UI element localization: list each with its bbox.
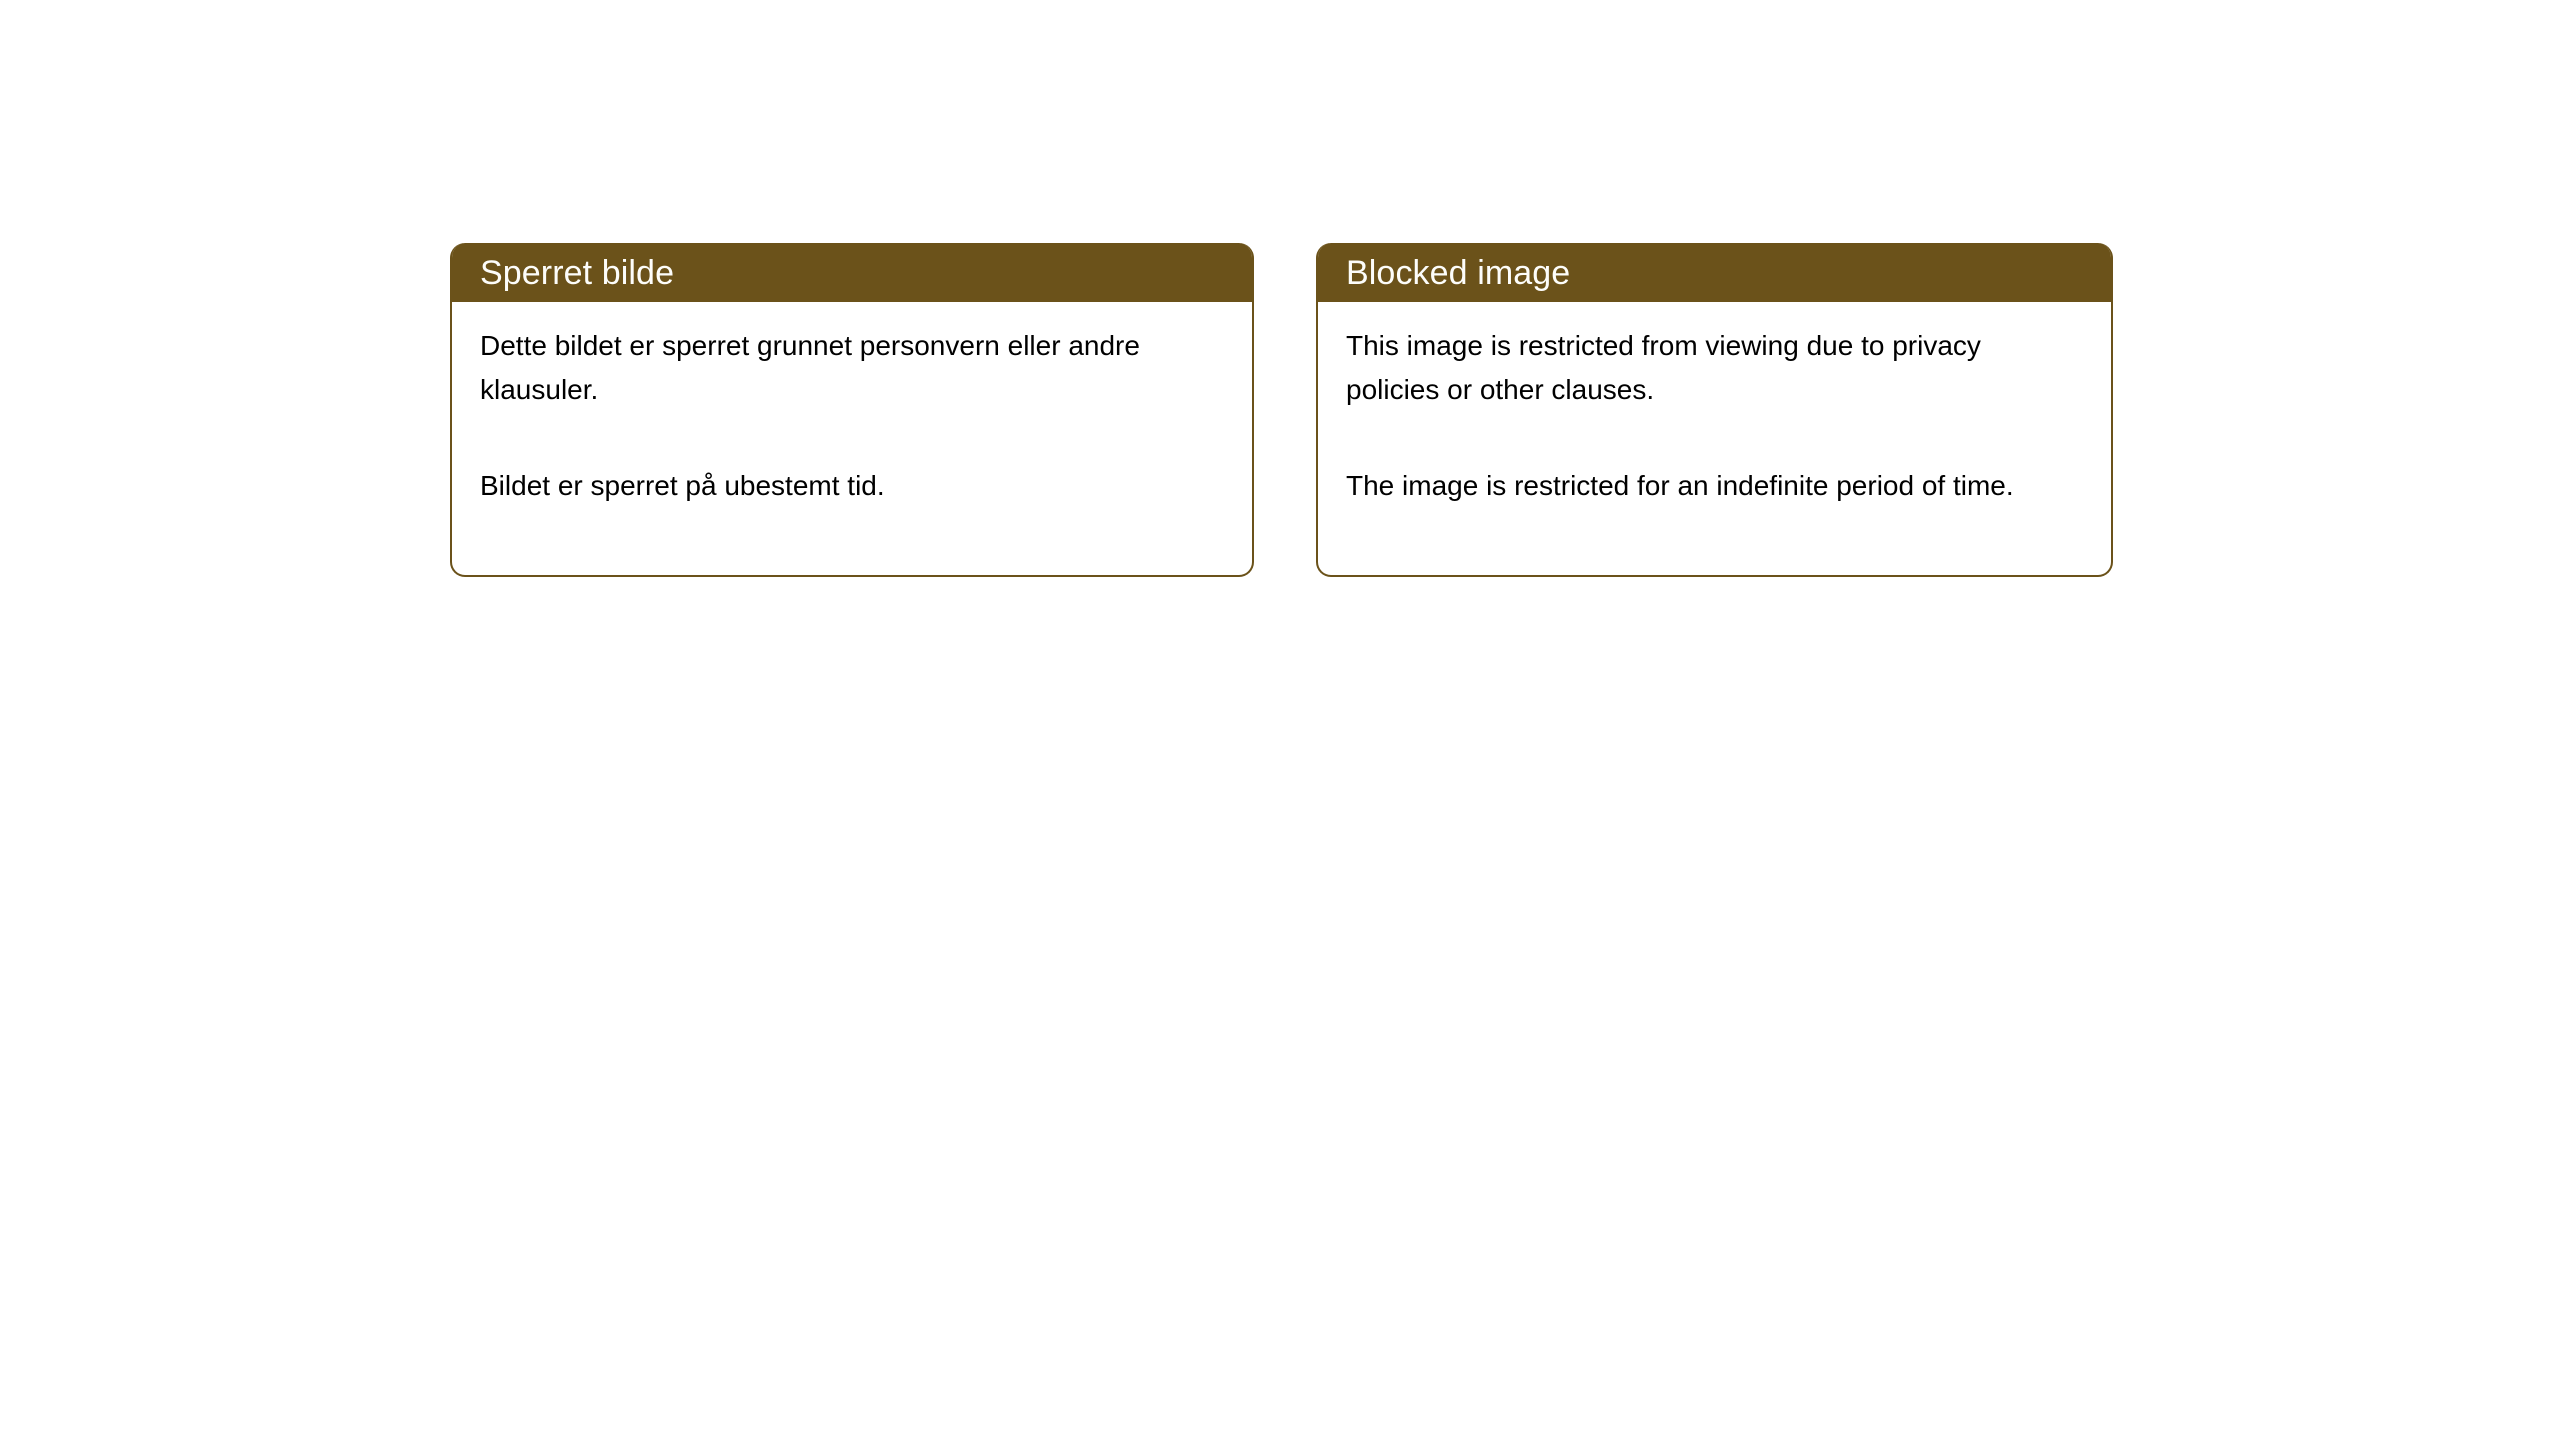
- notice-paragraph-secondary-norwegian: Bildet er sperret på ubestemt tid.: [480, 464, 1180, 508]
- blocked-image-notice-norwegian: Sperret bilde Dette bildet er sperret gr…: [450, 243, 1254, 577]
- panel-title-norwegian: Sperret bilde: [480, 254, 674, 292]
- panel-title-english: Blocked image: [1346, 254, 1570, 292]
- notice-paragraph-primary-norwegian: Dette bildet er sperret grunnet personve…: [480, 324, 1180, 412]
- panel-body-norwegian: Dette bildet er sperret grunnet personve…: [452, 302, 1252, 508]
- panel-body-english: This image is restricted from viewing du…: [1318, 302, 2111, 508]
- panel-header-english: Blocked image: [1316, 243, 2113, 302]
- blocked-image-notice-english: Blocked image This image is restricted f…: [1316, 243, 2113, 577]
- notice-paragraph-secondary-english: The image is restricted for an indefinit…: [1346, 464, 2046, 508]
- notice-paragraph-primary-english: This image is restricted from viewing du…: [1346, 324, 2046, 412]
- page-canvas: Sperret bilde Dette bildet er sperret gr…: [0, 0, 2560, 1440]
- panel-header-norwegian: Sperret bilde: [450, 243, 1254, 302]
